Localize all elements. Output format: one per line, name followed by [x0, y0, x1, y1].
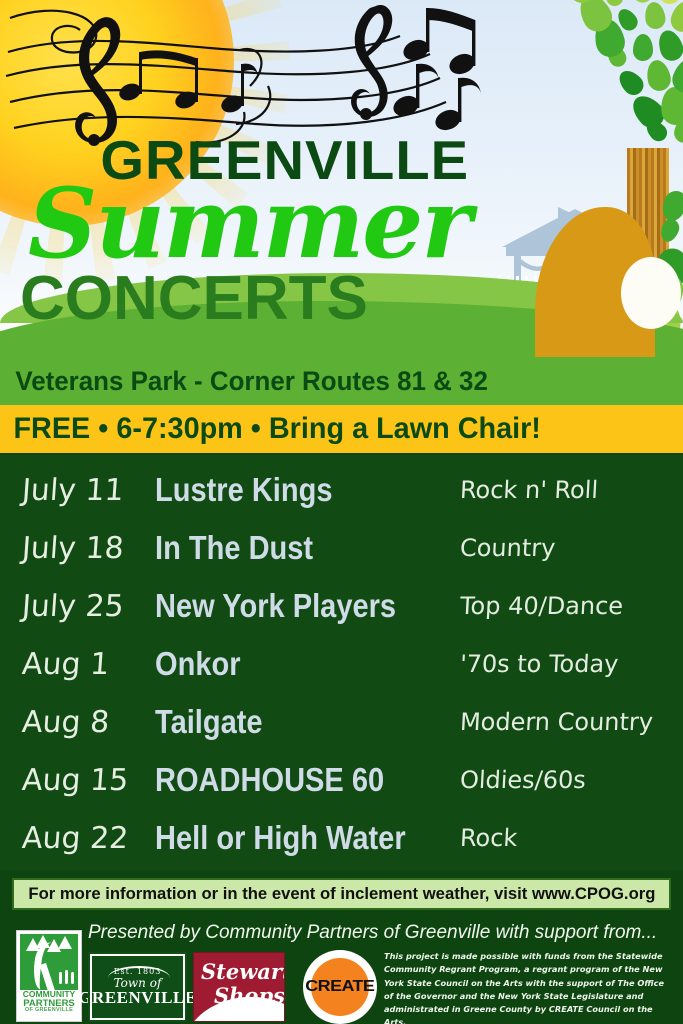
lineup-row: Aug 8TailgateModern Country [0, 693, 683, 751]
cpog-emblem-icon [20, 934, 78, 990]
sponsor-logos: COMMUNITY PARTNERS OF GREENVILLE Est. 18… [0, 946, 683, 1024]
lineup-genre: Country [459, 534, 683, 562]
lineup-band: ROADHOUSE 60 [155, 761, 423, 799]
stewarts-line2: Shops [214, 983, 285, 1008]
title-summer: Summer [28, 176, 470, 272]
lineup-date: July 11 [0, 473, 156, 508]
lineup-band: Lustre Kings [155, 471, 423, 509]
info-bar: For more information or in the event of … [12, 878, 671, 910]
tree-leaf [633, 34, 653, 61]
concert-poster: GREENVILLE Summer CONCERTS Veterans Park… [0, 0, 683, 1024]
create-word: CREATE [306, 978, 375, 996]
lineup-genre: Oldies/60s [459, 766, 683, 794]
grant-fineprint: This project is made possible with funds… [384, 950, 676, 1024]
venue-text: Veterans Park - Corner Routes 81 & 32 [0, 366, 488, 397]
lineup-date: July 18 [0, 531, 156, 566]
lineup-date: Aug 22 [0, 821, 156, 856]
lineup-band: Onkor [155, 645, 423, 683]
tree-leaf [615, 66, 648, 99]
tree-leaf [655, 27, 683, 64]
town-name: GREENVILLE [78, 989, 196, 1007]
logo-stewarts-shops: Stewart's Shops [193, 952, 285, 1022]
lineup-band: New York Players [155, 587, 423, 625]
lineup-genre: Rock [459, 824, 683, 852]
town-arc-line [108, 966, 170, 990]
path-highlight [621, 257, 681, 329]
stewarts-line1: Stewart's [201, 959, 285, 984]
lineup-row: July 11Lustre KingsRock n' Roll [0, 461, 683, 519]
admission-text: FREE • 6-7:30pm • Bring a Lawn Chair! [0, 412, 541, 446]
logo-community-partners: COMMUNITY PARTNERS OF GREENVILLE [16, 930, 82, 1022]
concert-lineup-list: July 11Lustre KingsRock n' RollJuly 18In… [0, 455, 683, 870]
lineup-row: Aug 1Onkor'70s to Today [0, 635, 683, 693]
logo-town-of-greenville: Est. 1803 Town of GREENVILLE [90, 954, 185, 1020]
lineup-date: Aug 1 [0, 647, 156, 682]
admission-bar: FREE • 6-7:30pm • Bring a Lawn Chair! [0, 405, 683, 453]
lineup-genre: '70s to Today [459, 650, 683, 678]
presented-by-text: Presented by Community Partners of Green… [88, 922, 657, 944]
tree-leaf [644, 58, 673, 93]
poster-header: GREENVILLE Summer CONCERTS [0, 0, 683, 357]
tree-leaf [644, 1, 668, 30]
lineup-date: July 25 [0, 589, 156, 624]
lineup-genre: Rock n' Roll [459, 476, 683, 504]
tree-leaf [668, 0, 683, 35]
lineup-row: July 18In The DustCountry [0, 519, 683, 577]
venue-bar: Veterans Park - Corner Routes 81 & 32 [0, 357, 683, 405]
lineup-date: Aug 15 [0, 763, 156, 798]
lineup-row: Aug 22Hell or High WaterRock [0, 809, 683, 867]
info-bar-text: For more information or in the event of … [28, 884, 655, 904]
lineup-genre: Modern Country [459, 708, 683, 736]
lineup-date: Aug 8 [0, 705, 156, 740]
create-circle-icon: CREATE [311, 958, 369, 1016]
lineup-band: Tailgate [155, 703, 423, 741]
lineup-genre: Top 40/Dance [459, 592, 683, 620]
lineup-band: In The Dust [155, 529, 423, 567]
logo-create-council: CREATE [303, 950, 377, 1024]
cpog-line3: OF GREENVILLE [25, 1008, 73, 1014]
lineup-row: Aug 15ROADHOUSE 60Oldies/60s [0, 751, 683, 809]
lineup-band: Hell or High Water [155, 819, 423, 857]
lineup-row: July 25New York PlayersTop 40/Dance [0, 577, 683, 635]
title-concerts: CONCERTS [20, 268, 368, 330]
